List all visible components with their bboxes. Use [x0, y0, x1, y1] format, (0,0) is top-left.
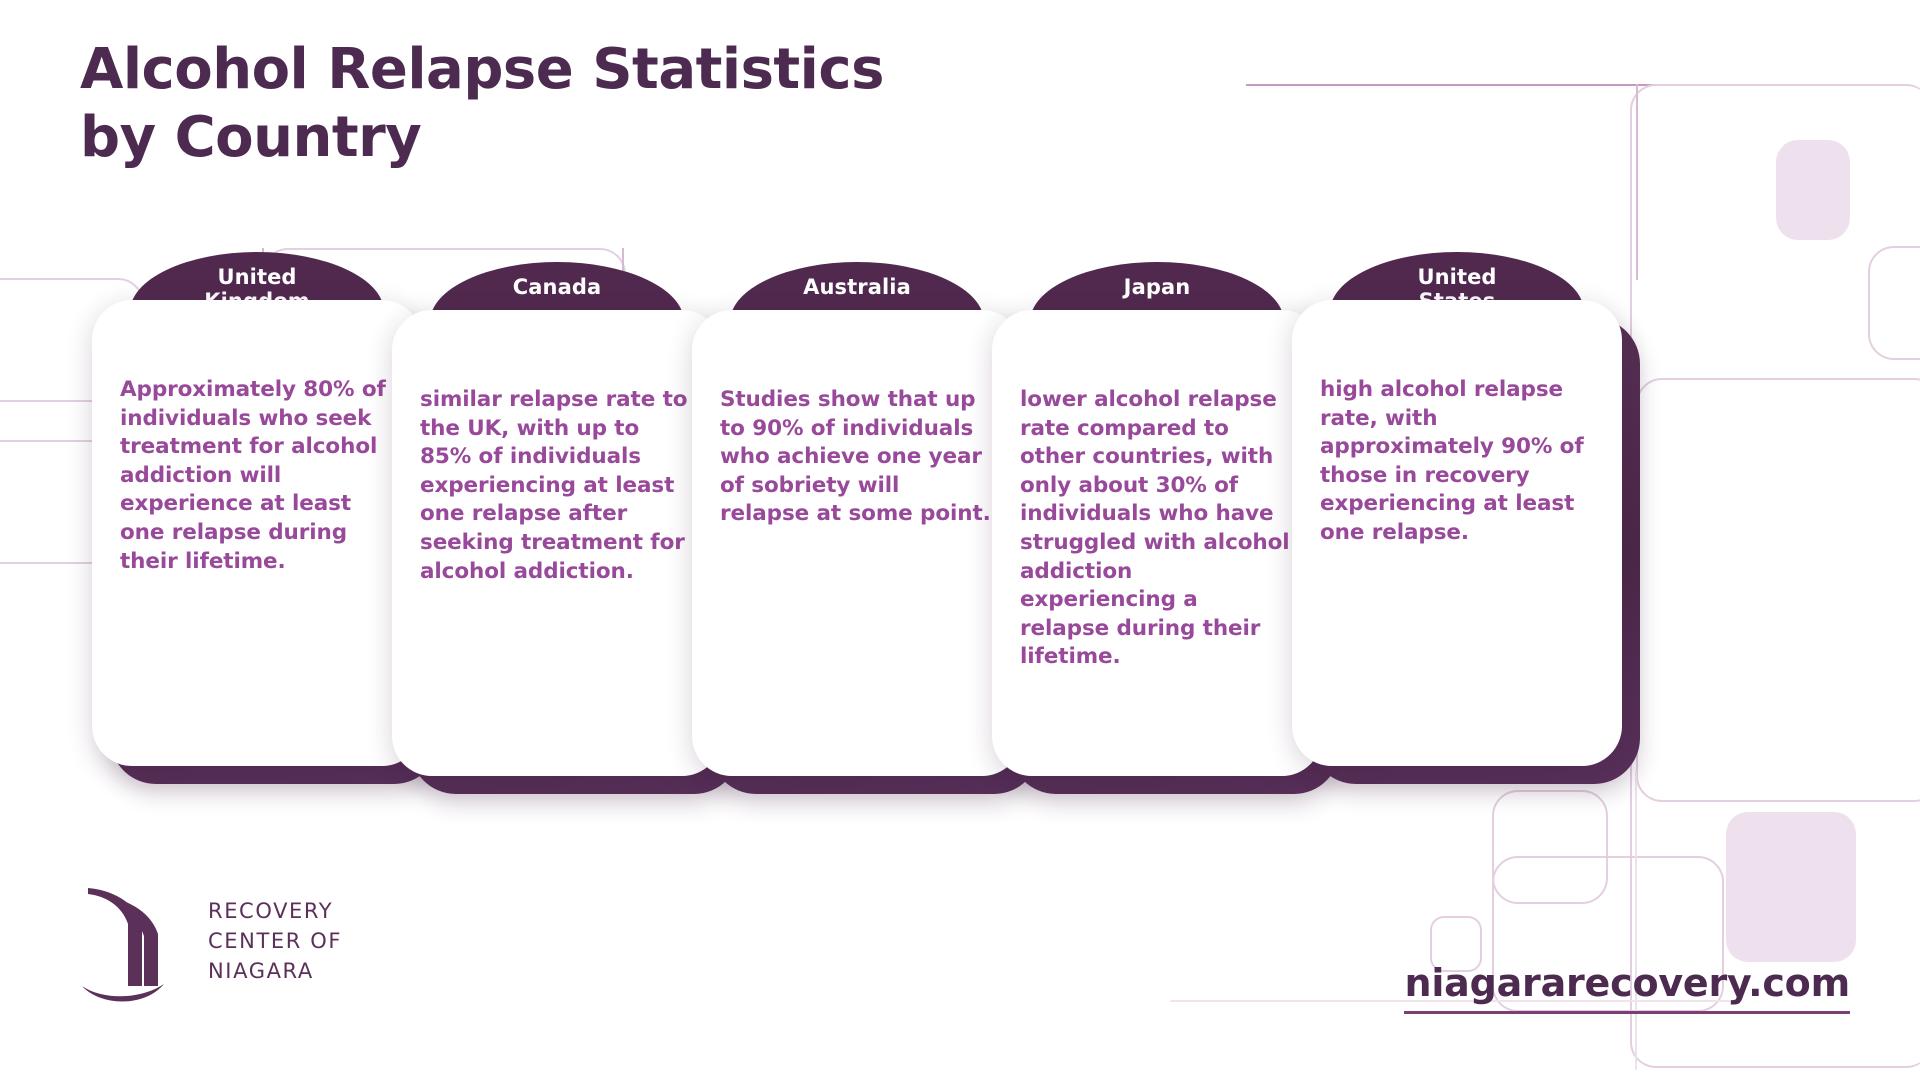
brand-logo[interactable]: RECOVERY CENTER OF NIAGARA	[78, 882, 342, 1002]
website-underline	[1404, 1011, 1850, 1014]
logo-wordmark: RECOVERY CENTER OF NIAGARA	[208, 897, 342, 986]
website-link[interactable]: niagararecovery.com	[1404, 961, 1850, 1014]
country-card-canada[interactable]: Canada similar relapse rate to the UK, w…	[392, 310, 722, 776]
card-body-text: similar relapse rate to the UK, with up …	[420, 386, 694, 586]
card-body-text: Approximately 80% of individuals who see…	[120, 376, 394, 576]
page-title: Alcohol Relapse Statistics by Country	[80, 36, 1080, 173]
country-name-label: Japan	[1124, 276, 1191, 300]
card-panel: Studies show that up to 90% of individua…	[692, 310, 1022, 776]
country-card-australia[interactable]: Australia Studies show that up to 90% of…	[692, 310, 1022, 776]
website-url-text: niagararecovery.com	[1404, 961, 1850, 1005]
card-panel: lower alcohol relapse rate compared to o…	[992, 310, 1322, 776]
card-panel: Approximately 80% of individuals who see…	[92, 300, 422, 766]
card-panel: similar relapse rate to the UK, with up …	[392, 310, 722, 776]
card-body-text: high alcohol relapse rate, with approxim…	[1320, 376, 1594, 548]
country-card-japan[interactable]: Japan lower alcohol relapse rate compare…	[992, 310, 1322, 776]
card-panel: high alcohol relapse rate, with approxim…	[1292, 300, 1622, 766]
card-body-text: lower alcohol relapse rate compared to o…	[1020, 386, 1294, 672]
niagara-falls-mark-icon	[78, 882, 186, 1002]
card-body-text: Studies show that up to 90% of individua…	[720, 386, 994, 529]
country-name-label: Australia	[803, 276, 911, 300]
country-card-united-kingdom[interactable]: United Kingdom Approximately 80% of indi…	[92, 300, 422, 766]
country-name-label: Canada	[513, 276, 602, 300]
country-card-united-states[interactable]: United States high alcohol relapse rate,…	[1292, 300, 1622, 766]
